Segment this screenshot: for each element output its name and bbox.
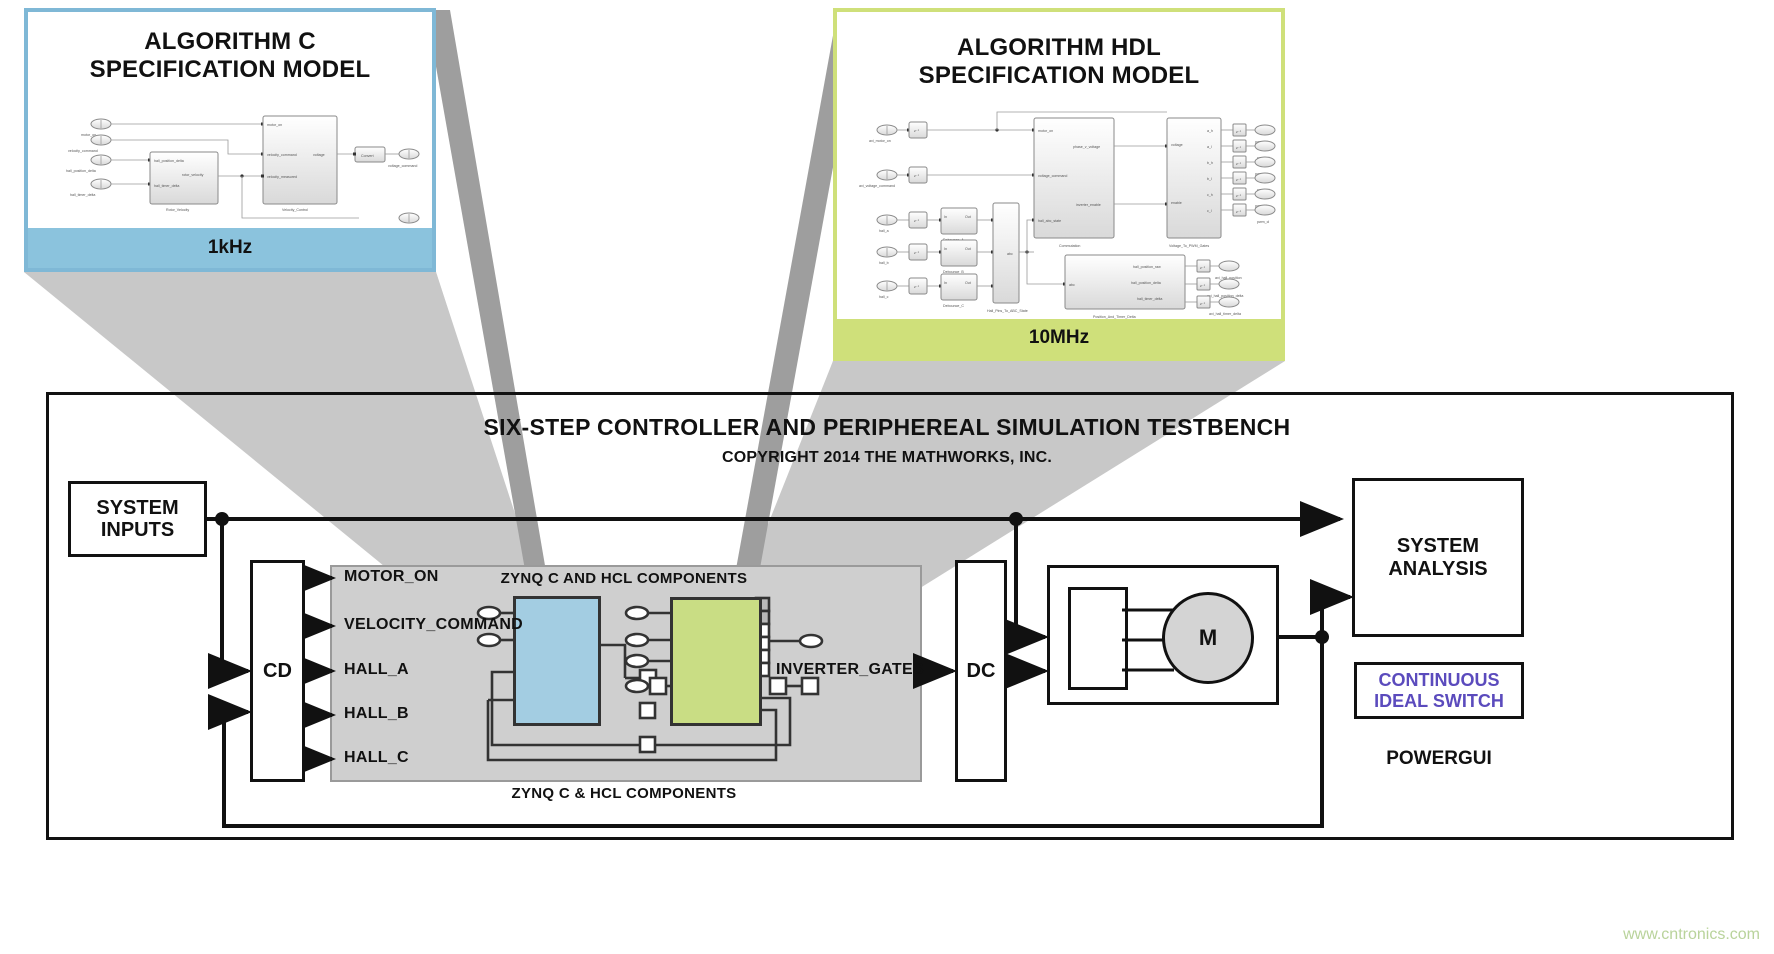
- svg-text:motor_on: motor_on: [1038, 129, 1053, 133]
- svg-text:hall_timer_delta: hall_timer_delta: [1137, 297, 1162, 301]
- svg-text:Velocity_Control: Velocity_Control: [282, 208, 308, 212]
- svg-text:velocity_command: velocity_command: [68, 149, 98, 153]
- svg-text:z⁻¹: z⁻¹: [914, 174, 920, 178]
- algorithm-hdl-title: ALGORITHM HDL SPECIFICATION MODEL: [837, 12, 1281, 91]
- svg-text:hall_position_raw: hall_position_raw: [1133, 265, 1161, 269]
- svg-text:hall_position_delta: hall_position_delta: [1131, 281, 1161, 285]
- svg-text:In: In: [944, 247, 947, 251]
- svg-text:motor_on: motor_on: [267, 123, 282, 127]
- svg-text:z⁻¹: z⁻¹: [1236, 178, 1242, 182]
- inverter-bridge-block: [1068, 587, 1128, 690]
- algorithm-hdl-panel: ALGORITHM HDL SPECIFICATION MODEL axi_mo…: [833, 8, 1285, 361]
- system-analysis-block[interactable]: SYSTEM ANALYSIS: [1352, 478, 1524, 637]
- signal-label-velocity-command: VELOCITY_COMMAND: [344, 616, 523, 634]
- svg-text:voltage_command: voltage_command: [1038, 174, 1067, 178]
- c-block-rotor-velocity: hall_position_delta hall_timer_delta rot…: [150, 152, 218, 212]
- hdl-inport-hall-a: hall_a z⁻¹ InOut Debounce_A: [877, 208, 994, 242]
- svg-text:Debounce_B: Debounce_B: [943, 270, 964, 274]
- hdl-block-commutation: motor_on voltage_command hall_abc_state …: [1034, 118, 1168, 248]
- signal-label-hall-c: HALL_C: [344, 749, 409, 767]
- svg-text:c_h: c_h: [1207, 193, 1213, 197]
- svg-text:abc: abc: [1007, 252, 1013, 256]
- cd-block[interactable]: CD: [250, 560, 305, 782]
- svg-text:z⁻¹: z⁻¹: [1200, 284, 1206, 288]
- dc-block[interactable]: DC: [955, 560, 1007, 782]
- svg-text:Convert: Convert: [361, 154, 374, 158]
- svg-text:b_l: b_l: [1207, 177, 1212, 181]
- hdl-outports-pwm: z⁻¹ pwm_ah z⁻¹ pwm_al z⁻¹ pwm_b: [1221, 124, 1275, 224]
- svg-text:z⁻¹: z⁻¹: [1200, 266, 1206, 270]
- svg-text:z⁻¹: z⁻¹: [1200, 302, 1206, 306]
- svg-text:Commutation: Commutation: [1059, 244, 1080, 248]
- svg-text:hall_b: hall_b: [879, 261, 889, 265]
- ideal-switch-line1: CONTINUOUS: [1378, 670, 1499, 690]
- svg-text:In: In: [944, 281, 947, 285]
- system-analysis-line1: SYSTEM: [1397, 535, 1479, 557]
- hdl-block-position-and-timer-delta: abc hall_position_raw hall_position_delt…: [1065, 255, 1185, 319]
- c-block-convert: Convert: [355, 147, 385, 162]
- c-outport-voltage-command: voltage_command: [388, 149, 419, 168]
- algorithm-c-model-canvas: motor_on velocity_command hall_position_…: [28, 98, 432, 238]
- svg-text:a_l: a_l: [1207, 145, 1212, 149]
- diagram-root: ALGORITHM C SPECIFICATION MODEL motor_on…: [0, 0, 1774, 954]
- powergui-label: POWERGUI: [1354, 748, 1524, 770]
- svg-text:b_h: b_h: [1207, 161, 1213, 165]
- svg-text:hall_a: hall_a: [879, 229, 889, 233]
- algorithm-c-title: ALGORITHM C SPECIFICATION MODEL: [28, 12, 432, 85]
- svg-text:z⁻¹: z⁻¹: [1236, 194, 1242, 198]
- algorithm-hdl-frequency: 10MHz: [837, 319, 1281, 357]
- testbench-subtitle: COPYRIGHT 2014 THE MATHWORKS, INC.: [0, 449, 1774, 467]
- svg-text:z⁻¹: z⁻¹: [914, 285, 920, 289]
- svg-text:Out: Out: [965, 247, 971, 251]
- svg-text:hall_timer_delta: hall_timer_delta: [70, 193, 95, 197]
- svg-text:Debounce_C: Debounce_C: [943, 304, 964, 308]
- testbench-title: SIX-STEP CONTROLLER AND PERIPHEREAL SIMU…: [0, 414, 1774, 441]
- svg-text:phase_v_voltage: phase_v_voltage: [1073, 145, 1100, 149]
- hdl-inport-hall-c: hall_c z⁻¹ InOut Debounce_C: [877, 274, 994, 308]
- svg-text:Rotor_Velocity: Rotor_Velocity: [166, 208, 189, 212]
- algorithm-c-frequency: 1kHz: [28, 228, 432, 268]
- signal-label-motor-on: MOTOR_ON: [344, 568, 439, 586]
- svg-text:hall_timer_delta: hall_timer_delta: [154, 184, 179, 188]
- motor-block[interactable]: M: [1162, 592, 1254, 684]
- svg-text:Hall_Pins_To_ABC_State: Hall_Pins_To_ABC_State: [987, 309, 1028, 313]
- svg-text:Out: Out: [965, 281, 971, 285]
- svg-text:z⁻¹: z⁻¹: [1236, 162, 1242, 166]
- c-inport-hall-position-delta: hall_position_delta: [66, 155, 151, 173]
- svg-text:velocity_command: velocity_command: [267, 153, 297, 157]
- c-inport-hall-timer-delta: hall_timer_delta: [70, 179, 151, 197]
- simulink-hdl-diagram: axi_motor_on z⁻¹ axi_voltage_command z⁻¹: [837, 100, 1281, 326]
- algorithm-c-panel: ALGORITHM C SPECIFICATION MODEL motor_on…: [24, 8, 436, 272]
- svg-text:voltage: voltage: [1171, 143, 1183, 147]
- hdl-block-voltage-to-pwm-gates: voltage enable a_h a_l b_h b_l c_h c_l V…: [1167, 118, 1221, 248]
- svg-text:Out: Out: [965, 215, 971, 219]
- svg-text:hall_position_delta: hall_position_delta: [66, 169, 96, 173]
- svg-text:voltage: voltage: [313, 153, 325, 157]
- algorithm-hdl-model-canvas: axi_motor_on z⁻¹ axi_voltage_command z⁻¹: [837, 100, 1281, 326]
- system-analysis-line2: ANALYSIS: [1388, 558, 1487, 580]
- signal-label-hall-b: HALL_B: [344, 705, 409, 723]
- zynq-bottom-label: ZYNQ C & HCL COMPONENTS: [330, 785, 918, 802]
- system-inputs-block[interactable]: SYSTEM INPUTS: [68, 481, 207, 557]
- svg-text:hall_c: hall_c: [879, 295, 889, 299]
- svg-text:z⁻¹: z⁻¹: [914, 219, 920, 223]
- svg-text:Voltage_To_PWM_Gates: Voltage_To_PWM_Gates: [1169, 244, 1209, 248]
- signal-label-hall-a: HALL_A: [344, 661, 409, 679]
- simulink-c-diagram: motor_on velocity_command hall_position_…: [28, 98, 432, 238]
- system-inputs-line1: SYSTEM: [96, 497, 178, 519]
- svg-text:z⁻¹: z⁻¹: [1236, 210, 1242, 214]
- continuous-ideal-switch-block[interactable]: CONTINUOUS IDEAL SWITCH: [1354, 662, 1524, 719]
- svg-text:axi_voltage_command: axi_voltage_command: [859, 184, 895, 188]
- svg-text:voltage_command: voltage_command: [388, 164, 417, 168]
- watermark: www.cntronics.com: [1623, 926, 1760, 944]
- svg-text:z⁻¹: z⁻¹: [914, 129, 920, 133]
- svg-text:inverter_enable: inverter_enable: [1076, 203, 1101, 207]
- hdl-inport-axi-motor-on: axi_motor_on z⁻¹: [869, 112, 1167, 143]
- ideal-switch-line2: IDEAL SWITCH: [1374, 691, 1504, 711]
- svg-text:In: In: [944, 215, 947, 219]
- svg-text:abc: abc: [1069, 283, 1075, 287]
- hdl-inport-hall-b: hall_b z⁻¹ InOut Debounce_B: [877, 240, 994, 274]
- svg-text:z⁻¹: z⁻¹: [1236, 146, 1242, 150]
- c-block-velocity-control: motor_on velocity_command velocity_measu…: [263, 116, 337, 212]
- zynq-hdl-core-block[interactable]: [670, 597, 762, 726]
- signal-label-inverter-gates: INVERTER_GATES: [776, 661, 924, 679]
- system-inputs-line2: INPUTS: [101, 519, 174, 541]
- svg-text:pwm_cl: pwm_cl: [1257, 220, 1269, 224]
- svg-text:axi_motor_on: axi_motor_on: [869, 139, 891, 143]
- hdl-inport-axi-voltage-command: axi_voltage_command z⁻¹: [859, 167, 1035, 188]
- svg-text:rotor_velocity: rotor_velocity: [182, 173, 204, 177]
- hdl-outports-position: z⁻¹ axi_hall_position z⁻¹ axi_hall_posit…: [1185, 260, 1243, 316]
- svg-text:velocity_measured: velocity_measured: [267, 175, 297, 179]
- svg-text:enable: enable: [1171, 201, 1182, 205]
- svg-text:z⁻¹: z⁻¹: [1236, 130, 1242, 134]
- svg-text:hall_position_delta: hall_position_delta: [154, 159, 184, 163]
- svg-text:z⁻¹: z⁻¹: [914, 251, 920, 255]
- svg-text:c_l: c_l: [1207, 209, 1212, 213]
- svg-text:a_h: a_h: [1207, 129, 1213, 133]
- zynq-c-core-block[interactable]: [513, 596, 601, 726]
- svg-text:axi_hall_timer_delta: axi_hall_timer_delta: [1209, 312, 1241, 316]
- c-inport-motor-on: motor_on: [81, 119, 264, 137]
- svg-text:hall_abc_state: hall_abc_state: [1038, 219, 1061, 223]
